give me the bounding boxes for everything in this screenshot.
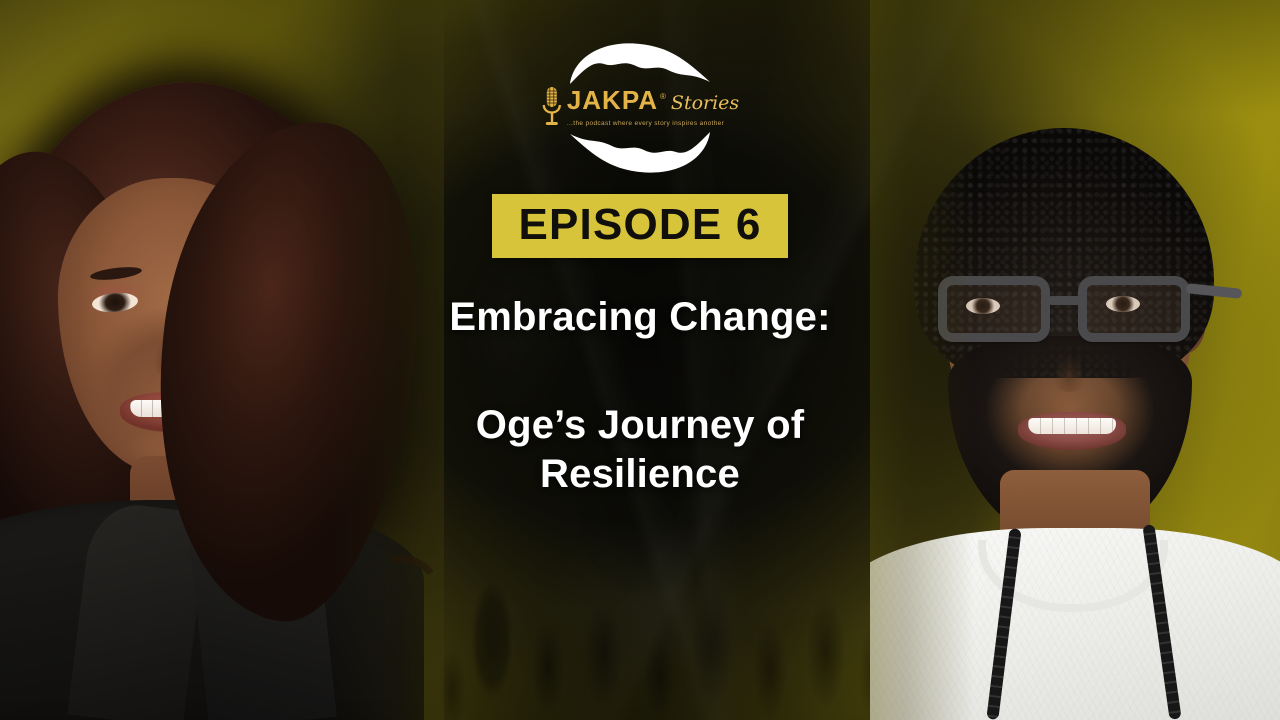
- episode-badge-label: EPISODE 6: [518, 203, 761, 247]
- episode-badge: EPISODE 6: [492, 194, 787, 258]
- right-guest-teeth: [1028, 418, 1116, 434]
- microphone-icon: [541, 85, 563, 129]
- logo-wordmark: JAKPA ® Stories ...the podcast where eve…: [541, 85, 739, 129]
- circular-arrows-icon-top: [564, 38, 716, 88]
- logo-brand-name: JAKPA: [567, 87, 658, 113]
- logo-script-word: Stories: [671, 94, 739, 113]
- logo-tagline: ...the podcast where every story inspire…: [567, 120, 724, 127]
- center-content: JAKPA ® Stories ...the podcast where eve…: [390, 0, 890, 720]
- eyeglass-bridge: [1048, 296, 1084, 305]
- right-guest-portrait: [870, 0, 1280, 720]
- logo-text-block: JAKPA ® Stories ...the podcast where eve…: [567, 87, 739, 127]
- eyeglasses-icon: [932, 272, 1204, 346]
- jakpa-stories-logo: JAKPA ® Stories ...the podcast where eve…: [540, 34, 740, 180]
- eyeglass-lens-left: [938, 276, 1050, 342]
- eyeglass-temple-arm: [1186, 283, 1243, 299]
- episode-title-line-1: Embracing Change:: [449, 296, 830, 339]
- left-guest-portrait: [0, 0, 444, 720]
- logo-name-row: JAKPA ® Stories: [567, 87, 739, 113]
- eyeglass-lens-right: [1078, 276, 1190, 342]
- episode-title-line-2: Oge’s Journey of Resilience: [405, 401, 875, 499]
- podcast-thumbnail-canvas: JAKPA ® Stories ...the podcast where eve…: [0, 0, 1280, 720]
- circular-arrows-icon-bottom: [564, 128, 716, 178]
- logo-trademark-symbol: ®: [660, 92, 666, 101]
